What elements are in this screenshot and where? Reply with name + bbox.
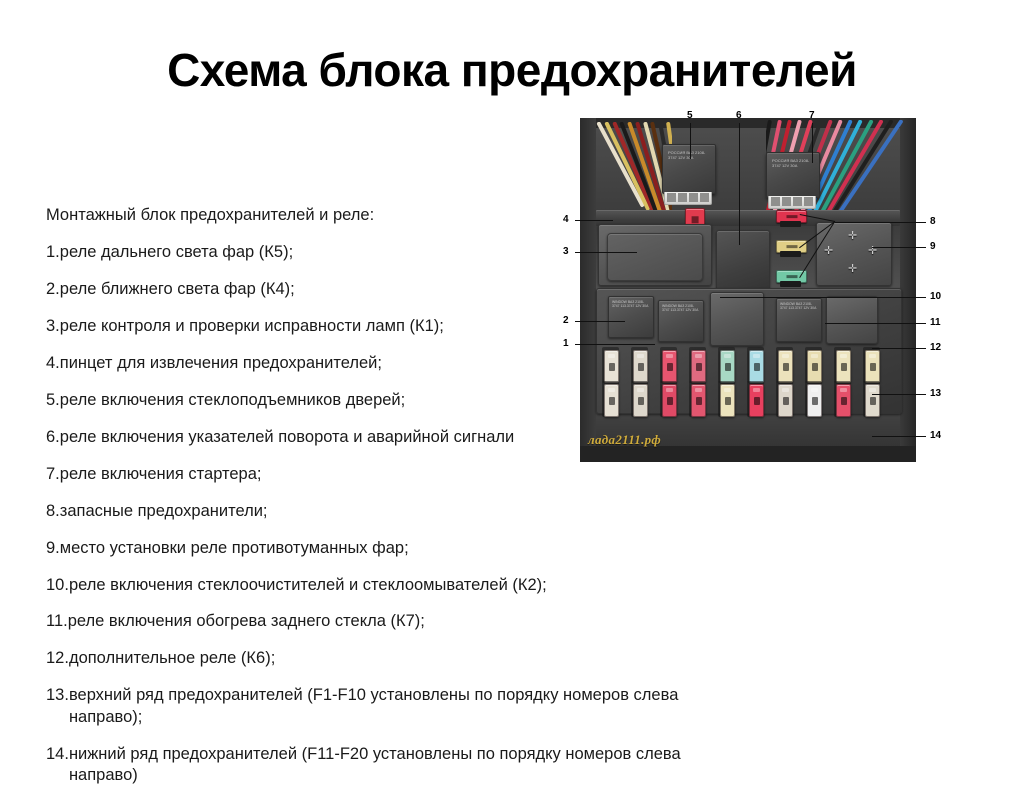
fuse-F8[interactable]	[807, 350, 822, 383]
housing-bottom-edge	[580, 446, 916, 462]
legend-item-10: 10.реле включения стеклоочистителей и ст…	[46, 575, 736, 596]
legend-item-number: 5.	[46, 390, 60, 411]
callout-leader-line	[872, 394, 926, 395]
spare-fuse-green-clip	[780, 281, 801, 287]
callout-leader-line	[575, 252, 637, 253]
fuse-F13[interactable]	[662, 384, 677, 417]
legend-item-number: 7.	[46, 464, 60, 485]
callout-leader-line	[739, 123, 740, 245]
relay-5-window-lift: РОССИЯ ВАЗ 2108-3747 12V 30A	[662, 144, 716, 194]
fuse-F20[interactable]	[865, 384, 880, 417]
fuse-F10[interactable]	[865, 350, 880, 383]
callout-number-3: 3	[563, 247, 569, 257]
relay-1-high-beam: WINDOW ВАЗ 2108-3747 113.3747 12V 30A	[658, 300, 704, 342]
legend-item-number: 14.	[46, 744, 69, 765]
relay-7-terminals	[768, 196, 816, 209]
callout-leader-line	[872, 247, 926, 248]
fuse-F4[interactable]	[691, 350, 706, 383]
legend-item-text: нижний ряд предохранителей (F11-F20 уста…	[69, 744, 736, 787]
relay-3-cover-inset	[607, 233, 703, 281]
fuse-F2[interactable]	[633, 350, 648, 383]
legend-item-12: 12.дополнительное реле (К6);	[46, 648, 736, 669]
fuse-F14[interactable]	[691, 384, 706, 417]
slide-root: Схема блока предохранителей Монтажный бл…	[0, 0, 1024, 767]
relay-12-additional	[826, 296, 878, 344]
callout-leader-line	[690, 123, 691, 159]
callout-leader-line	[575, 220, 613, 221]
legend-item-text: верхний ряд предохранителей (F1-F10 уста…	[69, 685, 736, 728]
fuse-box-photo-image: РОССИЯ ВАЗ 2108-3747 12V 30A РОССИЯ ВАЗ …	[580, 118, 916, 462]
legend-item-number: 4.	[46, 353, 60, 374]
legend-item-number: 10.	[46, 575, 69, 596]
relay-3-lamp-monitor-cover	[598, 224, 712, 286]
callout-leader-line	[825, 323, 926, 324]
fuse-F1[interactable]	[604, 350, 619, 383]
callout-number-6: 6	[736, 111, 742, 121]
fuse-F12[interactable]	[633, 384, 648, 417]
callout-number-12: 12	[930, 343, 941, 353]
callout-leader-line	[575, 321, 625, 322]
relay-2-marking: WINDOW ВАЗ 2108-3747 113.3747 12V 30A	[612, 300, 650, 334]
callout-number-13: 13	[930, 389, 941, 399]
fuse-F9[interactable]	[836, 350, 851, 383]
callout-leader-line	[812, 123, 813, 163]
fuse-F7[interactable]	[778, 350, 793, 383]
fuse-F6[interactable]	[749, 350, 764, 383]
callout-leader-line	[575, 344, 655, 345]
fuse-F3[interactable]	[662, 350, 677, 383]
callout-number-9: 9	[930, 242, 936, 252]
fog-seat-crosshair-4: ✛	[848, 264, 857, 275]
legend-item-text: реле включения стартера;	[60, 464, 736, 485]
legend-item-13: 13.верхний ряд предохранителей (F1-F10 у…	[46, 685, 736, 728]
fuse-F17[interactable]	[778, 384, 793, 417]
callout-number-2: 2	[563, 316, 569, 326]
callout-number-5: 5	[687, 111, 693, 121]
spare-fuse-yellow-clip	[780, 251, 801, 257]
legend-item-11: 11.реле включения обогрева заднего стекл…	[46, 611, 736, 632]
fog-seat-crosshair-1: ✛	[824, 246, 833, 257]
callout-leader-line	[835, 222, 926, 223]
spare-fuse-red-clip	[780, 221, 801, 227]
legend-item-text: место установки реле противотуманных фар…	[60, 538, 736, 559]
callout-number-14: 14	[930, 431, 941, 441]
fuse-F18[interactable]	[807, 384, 822, 417]
legend-item-number: 6.	[46, 427, 60, 448]
legend-item-text: запасные предохранители;	[60, 501, 736, 522]
relay-2-low-beam: WINDOW ВАЗ 2108-3747 113.3747 12V 30A	[608, 296, 654, 338]
callout-leader-line	[872, 436, 926, 437]
relay-11-marking: WINDOW ВАЗ 2108-3747 113.3747 12V 30A	[780, 302, 818, 338]
legend-item-number: 13.	[46, 685, 69, 706]
callout-number-1: 1	[563, 339, 569, 349]
callout-leader-line	[872, 348, 926, 349]
legend-item-9: 9.место установки реле противотуманных ф…	[46, 538, 736, 559]
legend-item-14: 14.нижний ряд предохранителей (F11-F20 у…	[46, 744, 736, 787]
relay-10-wiper-washer	[710, 292, 764, 346]
legend-item-number: 8.	[46, 501, 60, 522]
legend-item-number: 11.	[46, 611, 68, 632]
legend-item-number: 1.	[46, 242, 60, 263]
legend-item-number: 3.	[46, 316, 60, 337]
callout-number-8: 8	[930, 217, 936, 227]
callout-leader-line	[720, 297, 926, 298]
fuse-F19[interactable]	[836, 384, 851, 417]
fuse-F5[interactable]	[720, 350, 735, 383]
relay-6-turn-signal	[716, 230, 770, 292]
callout-number-7: 7	[809, 111, 815, 121]
legend-item-text: дополнительное реле (К6);	[69, 648, 736, 669]
legend-item-text: реле включения стеклоочистителей и стекл…	[69, 575, 736, 596]
relay-5-marking: РОССИЯ ВАЗ 2108-3747 12V 30A	[668, 150, 710, 188]
legend-item-text: реле включения обогрева заднего стекла (…	[68, 611, 736, 632]
callout-number-10: 10	[930, 292, 941, 302]
relay-11-rear-defogger: WINDOW ВАЗ 2108-3747 113.3747 12V 30A	[776, 298, 822, 342]
relay-1-marking: WINDOW ВАЗ 2108-3747 113.3747 12V 30A	[662, 304, 700, 338]
fuse-F11[interactable]	[604, 384, 619, 417]
fuse-box-photo: РОССИЯ ВАЗ 2108-3747 12V 30A РОССИЯ ВАЗ …	[580, 118, 916, 462]
legend-item-7: 7.реле включения стартера;	[46, 464, 736, 485]
callout-number-11: 11	[930, 318, 941, 328]
page-title: Схема блока предохранителей	[60, 46, 964, 94]
callout-number-4: 4	[563, 215, 569, 225]
fog-seat-crosshair-2: ✛	[848, 231, 857, 242]
legend-item-8: 8.запасные предохранители;	[46, 501, 736, 522]
relay-7-marking: РОССИЯ ВАЗ 2108-3747 12V 30A	[772, 158, 814, 192]
relay-5-terminals	[664, 192, 712, 205]
legend-item-number: 9.	[46, 538, 60, 559]
fuse-F16[interactable]	[749, 384, 764, 417]
legend-item-number: 2.	[46, 279, 60, 300]
fuse-F15[interactable]	[720, 384, 735, 417]
photo-watermark: лада2111.рф	[588, 432, 661, 448]
legend-item-number: 12.	[46, 648, 69, 669]
